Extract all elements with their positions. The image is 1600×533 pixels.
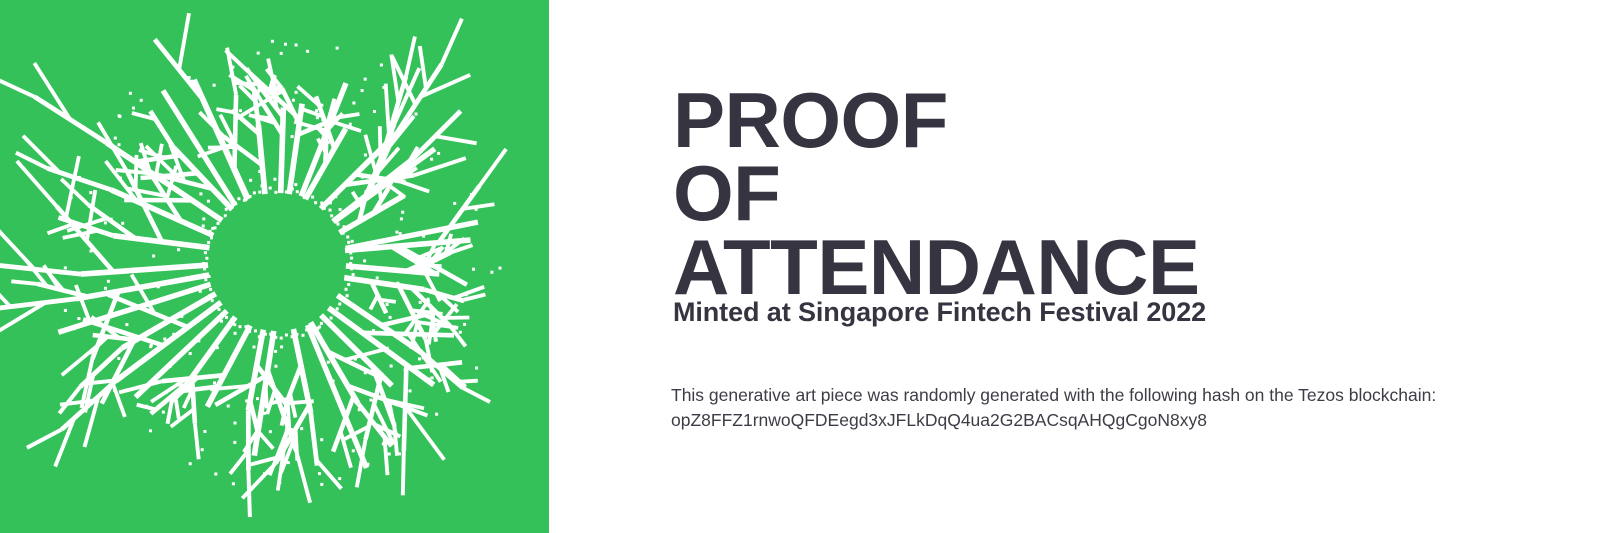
title-line-of: OF (673, 157, 1493, 230)
hash-description: This generative art piece was randomly g… (671, 383, 1551, 408)
content-panel: PROOF OF ATTENDANCE Minted at Singapore … (549, 0, 1600, 533)
generative-radial-branch-art (0, 0, 549, 533)
hash-block: This generative art piece was randomly g… (671, 383, 1551, 433)
generative-art-panel (0, 0, 549, 533)
page-title: PROOF OF ATTENDANCE (673, 84, 1493, 304)
title-line-attendance: ATTENDANCE (673, 231, 1493, 304)
proof-of-attendance-card: PROOF OF ATTENDANCE Minted at Singapore … (0, 0, 1600, 533)
hash-value: opZ8FFZ1rnwoQFDEegd3xJFLkDqQ4ua2G2BACsqA… (671, 408, 1551, 433)
event-subtitle: Minted at Singapore Fintech Festival 202… (673, 297, 1206, 328)
title-line-proof: PROOF (673, 84, 1493, 157)
